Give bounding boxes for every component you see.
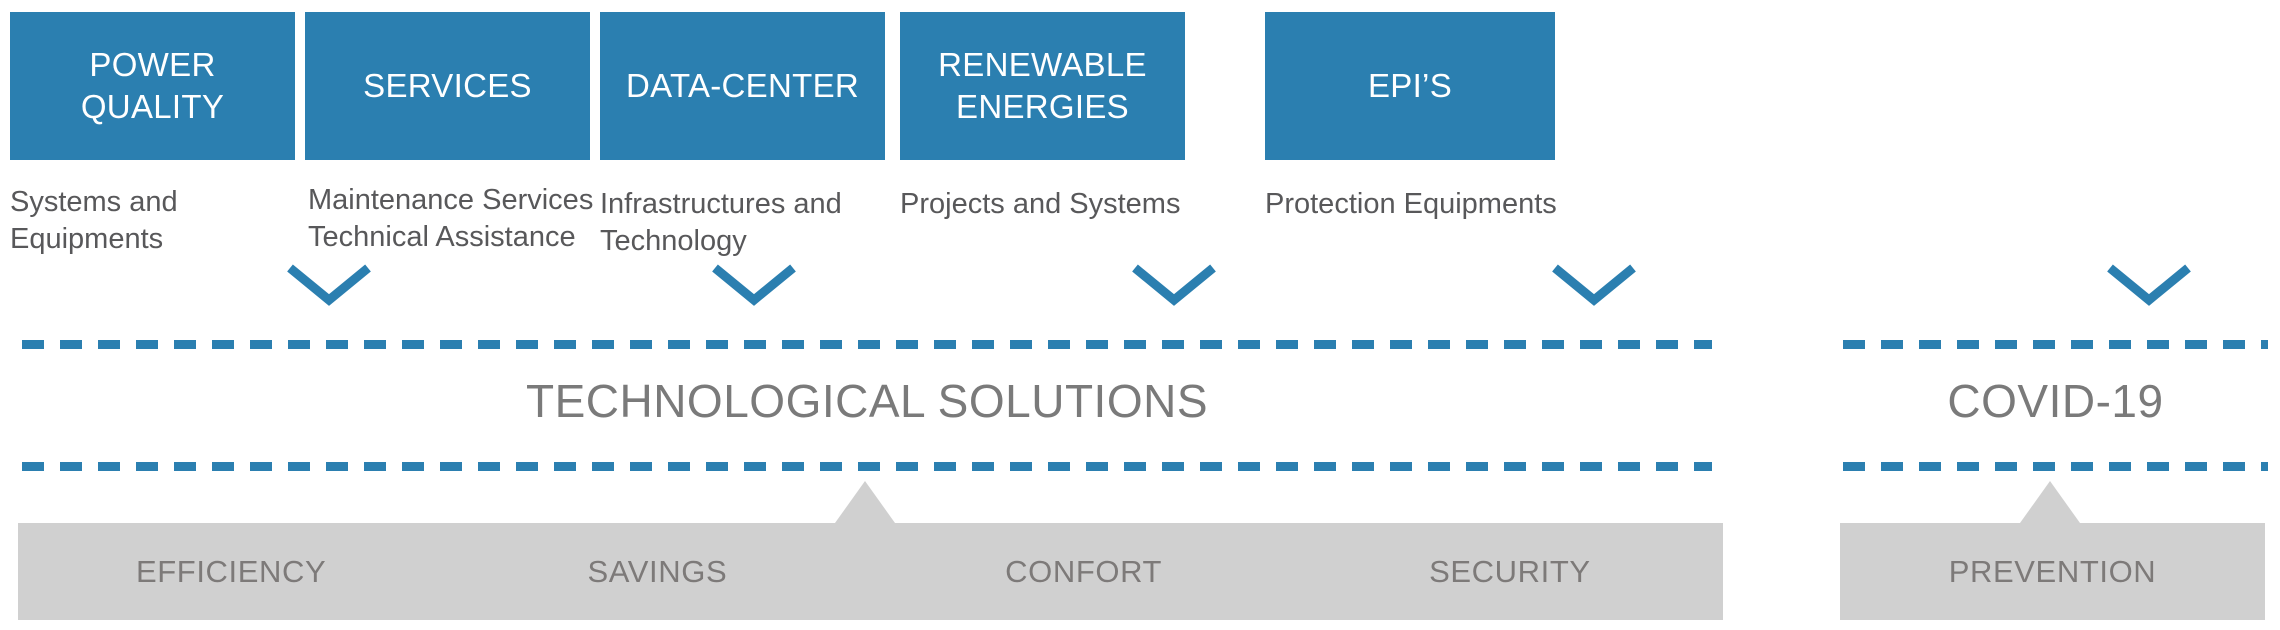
benefit-savings: SAVINGS — [444, 554, 870, 590]
dashed-divider-top-left — [22, 340, 1712, 349]
benefit-security: SECURITY — [1297, 554, 1723, 590]
benefit-confort: CONFORT — [871, 554, 1297, 590]
category-card-title: POWER QUALITY — [81, 44, 224, 128]
dashed-divider-top-right — [1843, 340, 2268, 349]
benefits-bar-right: PREVENTION — [1840, 523, 2265, 620]
category-card-renewable-energies[interactable]: RENEWABLE ENERGIES — [900, 12, 1185, 160]
diagram-canvas: POWER QUALITY SERVICES DATA-CENTER RENEW… — [0, 0, 2280, 630]
category-card-power-quality[interactable]: POWER QUALITY — [10, 12, 295, 160]
category-card-data-center[interactable]: DATA-CENTER — [600, 12, 885, 160]
up-arrow-right-group — [2020, 481, 2080, 523]
category-card-title: RENEWABLE ENERGIES — [938, 44, 1147, 128]
dashed-divider-bottom-right — [1843, 462, 2268, 471]
category-card-title: EPI’S — [1368, 65, 1452, 107]
category-card-title: DATA-CENTER — [626, 65, 859, 107]
chevron-down-icon-services — [710, 262, 798, 306]
chevron-down-icon-power-quality — [285, 262, 373, 306]
dashed-divider-bottom-left — [22, 462, 1712, 471]
category-caption-data-center: Infrastructures and Technology — [600, 186, 930, 260]
chevron-down-icon-epis — [2105, 262, 2193, 306]
category-caption-services: Maintenance Services Technical Assistanc… — [308, 182, 628, 256]
category-caption-power-quality: Systems and Equipments — [10, 184, 310, 258]
banner-technological-solutions: TECHNOLOGICAL SOLUTIONS — [22, 378, 1712, 424]
benefit-efficiency: EFFICIENCY — [18, 554, 444, 590]
category-caption-renewable-energies: Projects and Systems — [900, 186, 1220, 223]
category-caption-epis: Protection Equipments — [1265, 186, 1595, 223]
benefits-bar-left: EFFICIENCY SAVINGS CONFORT SECURITY — [18, 523, 1723, 620]
up-arrow-left-group — [835, 481, 895, 523]
benefit-prevention: PREVENTION — [1840, 554, 2265, 590]
banner-covid-19: COVID-19 — [1843, 378, 2268, 424]
category-card-epis[interactable]: EPI’S — [1265, 12, 1555, 160]
chevron-down-icon-renewable-energies — [1550, 262, 1638, 306]
chevron-down-icon-data-center — [1130, 262, 1218, 306]
category-card-title: SERVICES — [363, 65, 532, 107]
category-card-services[interactable]: SERVICES — [305, 12, 590, 160]
